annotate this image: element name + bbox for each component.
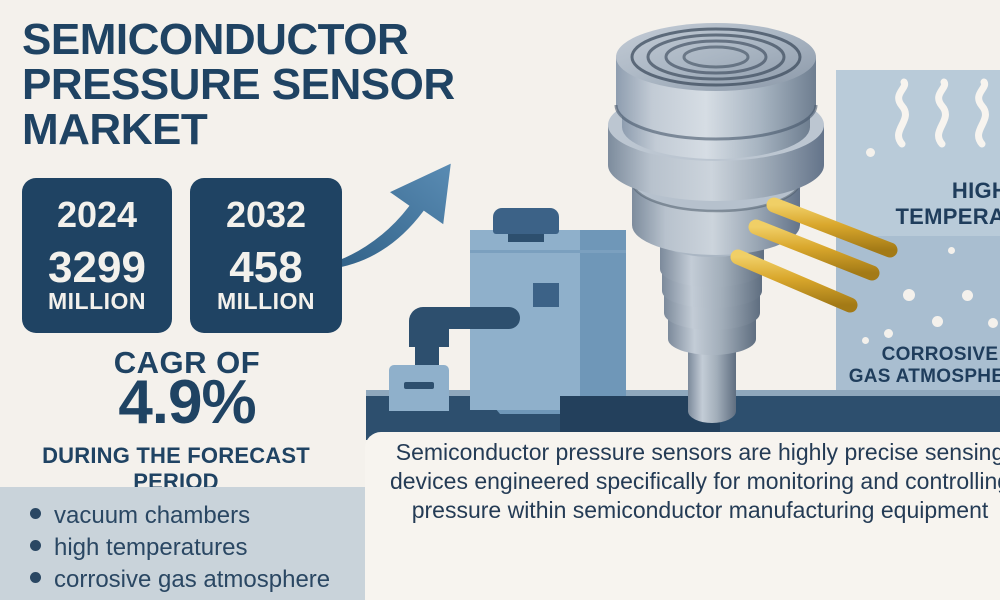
gas-particle <box>948 247 955 254</box>
high-temperature-label-line1: HIGH <box>880 178 1000 204</box>
gas-particle <box>962 290 973 301</box>
equipment-access-panel <box>533 283 559 307</box>
bullet-icon <box>30 540 41 551</box>
heat-wave-icon <box>890 78 1000 148</box>
list-item: vacuum chambers <box>30 500 390 532</box>
bullet-icon <box>30 508 41 519</box>
gas-particle <box>988 318 998 328</box>
equipment-cap <box>493 208 559 234</box>
list-item-label: high temperatures <box>54 532 247 564</box>
high-temperature-label: HIGH TEMPERATURE <box>880 178 1000 229</box>
bullet-icon <box>30 572 41 583</box>
stat-year: 2032 <box>226 197 306 233</box>
page-title: SEMICONDUCTOR PRESSURE SENSOR MARKET <box>22 18 522 153</box>
corrosive-gas-label: CORROSIVE GAS ATMOSPHERE <box>840 344 1000 389</box>
list-item: corrosive gas atmosphere <box>30 564 390 596</box>
stat-card-2024: 2024 3299 MILLION <box>22 178 172 333</box>
description-text: Semiconductor pressure sensors are highl… <box>380 438 1000 524</box>
stat-year: 2024 <box>57 197 137 233</box>
infographic-canvas: HIGH TEMPERATURE CORROSIVE GAS ATMOSPHER… <box>0 0 1000 600</box>
growth-arrow <box>320 140 480 270</box>
corrosive-gas-label-line2: GAS ATMOSPHERE <box>840 366 1000 388</box>
corrosive-gas-label-line1: CORROSIVE <box>840 344 1000 366</box>
stat-unit: MILLION <box>48 289 146 314</box>
applications-list: vacuum chambers high temperatures corros… <box>30 500 390 596</box>
stat-value: 458 <box>229 247 302 289</box>
stat-value: 3299 <box>48 247 146 289</box>
stat-card-2032: 2032 458 MILLION <box>190 178 342 333</box>
stat-unit: MILLION <box>217 289 315 314</box>
list-item-label: vacuum chambers <box>54 500 250 532</box>
list-item-label: corrosive gas atmosphere <box>54 564 330 596</box>
list-item: high temperatures <box>30 532 390 564</box>
high-temperature-label-line2: TEMPERATURE <box>880 204 1000 230</box>
gas-particle <box>932 316 943 327</box>
equipment-control-slot <box>404 382 434 389</box>
cagr-value: 4.9% <box>22 372 352 434</box>
gas-particle <box>903 289 915 301</box>
